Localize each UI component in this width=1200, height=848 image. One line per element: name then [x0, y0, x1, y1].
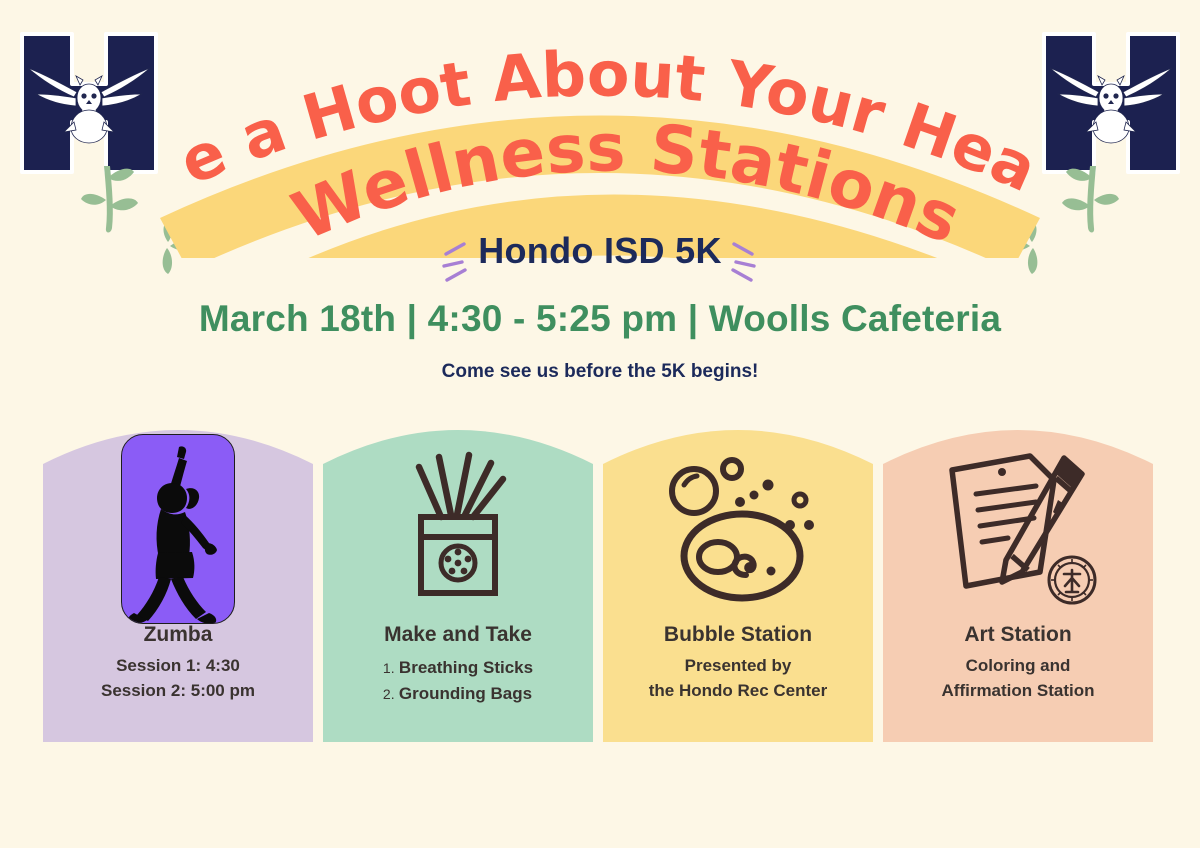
list-number: 2. — [383, 684, 399, 705]
station-detail-line: the Hondo Rec Center — [649, 679, 828, 704]
station-card-row: Zumba Session 1: 4:30 Session 2: 5:00 pm — [0, 410, 1200, 750]
station-detail: Presented by the Hondo Rec Center — [649, 654, 828, 703]
list-item: 2.Grounding Bags — [383, 681, 533, 707]
station-detail: Session 1: 4:30 Session 2: 5:00 pm — [101, 654, 255, 703]
list-item-label: Grounding Bags — [399, 684, 532, 703]
station-title: Bubble Station — [664, 622, 812, 647]
event-details-label: March 18th | 4:30 - 5:25 pm | Woolls Caf… — [199, 298, 1001, 339]
event-details-line: March 18th | 4:30 - 5:25 pm | Woolls Caf… — [0, 298, 1200, 340]
station-card-zumba[interactable]: Zumba Session 1: 4:30 Session 2: 5:00 pm — [43, 410, 313, 742]
flyer-page: Give a Hoot About Your Health Wellness S… — [0, 0, 1200, 848]
confetti-left-icon — [440, 238, 470, 284]
reed-diffuser-icon — [395, 436, 521, 622]
station-detail-line: Presented by — [649, 654, 828, 679]
station-detail: Coloring and Affirmation Station — [942, 654, 1095, 703]
organization-label: Hondo ISD 5K — [478, 230, 722, 271]
station-title: Art Station — [964, 622, 1071, 647]
station-detail-line: Session 2: 5:00 pm — [101, 679, 255, 704]
title-banner-group: Give a Hoot About Your Health Wellness S… — [0, 18, 1200, 258]
paper-and-pen-icon — [936, 436, 1100, 622]
station-title: Make and Take — [384, 622, 532, 647]
organization-line: Hondo ISD 5K — [0, 230, 1200, 272]
list-item-label: Breathing Sticks — [399, 658, 533, 677]
station-card-make-and-take[interactable]: Make and Take 1.Breathing Sticks 2.Groun… — [323, 410, 593, 742]
list-item: 1.Breathing Sticks — [383, 655, 533, 681]
bubbles-icon — [658, 436, 818, 622]
confetti-right-icon — [728, 238, 758, 284]
station-card-art[interactable]: Art Station Coloring and Affirmation Sta… — [883, 410, 1153, 742]
list-number: 1. — [383, 658, 399, 679]
station-detail-line: Affirmation Station — [942, 679, 1095, 704]
station-detail-line: Session 1: 4:30 — [101, 654, 255, 679]
tagline-line: Come see us before the 5K begins! — [0, 361, 1200, 383]
station-card-bubble[interactable]: Bubble Station Presented by the Hondo Re… — [603, 410, 873, 742]
station-detail-line: Coloring and — [942, 654, 1095, 679]
zumba-dancer-icon — [121, 436, 235, 622]
station-title: Zumba — [144, 622, 213, 647]
tagline-label: Come see us before the 5K begins! — [442, 361, 759, 382]
station-item-list: 1.Breathing Sticks 2.Grounding Bags — [383, 655, 533, 706]
